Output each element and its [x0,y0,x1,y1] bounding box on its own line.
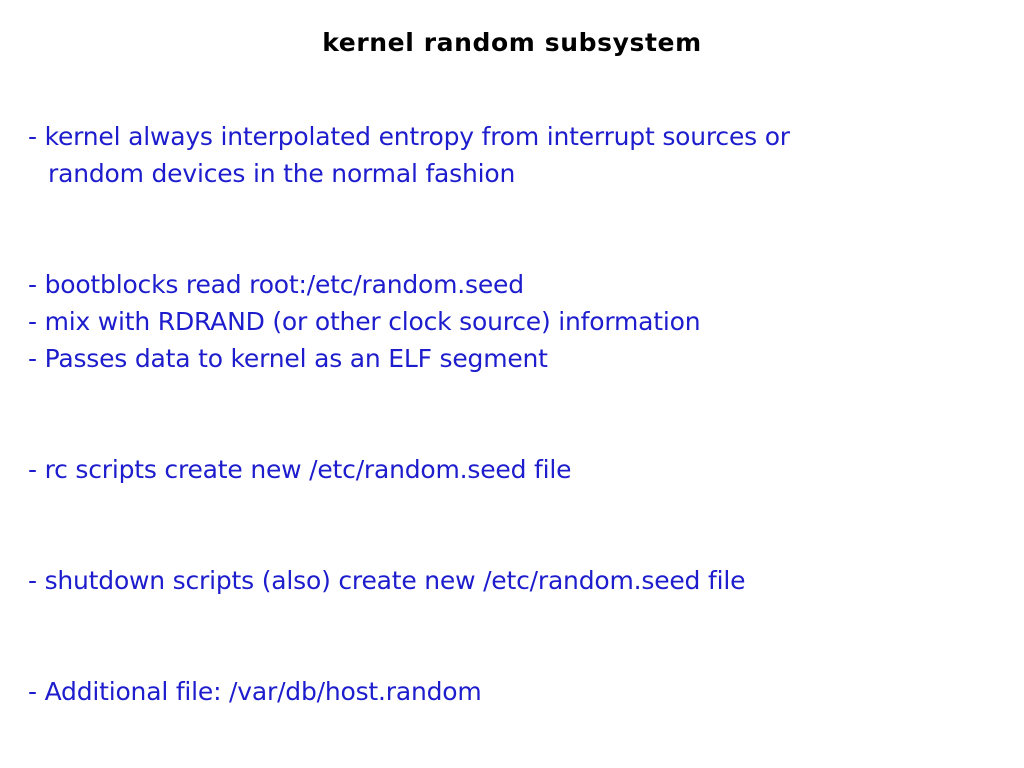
bullet-line-continuation: random devices in the normal fashion [28,155,998,192]
slide-body: - kernel always interpolated entropy fro… [28,118,998,710]
spacer-line [28,636,998,673]
bullet-line: - mix with RDRAND (or other clock source… [28,303,998,340]
bullet-line: - rc scripts create new /etc/random.seed… [28,451,998,488]
presentation-slide: kernel random subsystem - kernel always … [0,0,1024,768]
spacer-line [28,377,998,414]
bullet-line: - Additional file: /var/db/host.random [28,673,998,710]
page-title: kernel random subsystem [0,28,1024,58]
spacer-line [28,599,998,636]
spacer-line [28,192,998,229]
spacer-line [28,525,998,562]
spacer-line [28,229,998,266]
bullet-line: - shutdown scripts (also) create new /et… [28,562,998,599]
bullet-line: - bootblocks read root:/etc/random.seed [28,266,998,303]
spacer-line [28,488,998,525]
bullet-line: - kernel always interpolated entropy fro… [28,118,998,155]
bullet-line: - Passes data to kernel as an ELF segmen… [28,340,998,377]
spacer-line [28,414,998,451]
